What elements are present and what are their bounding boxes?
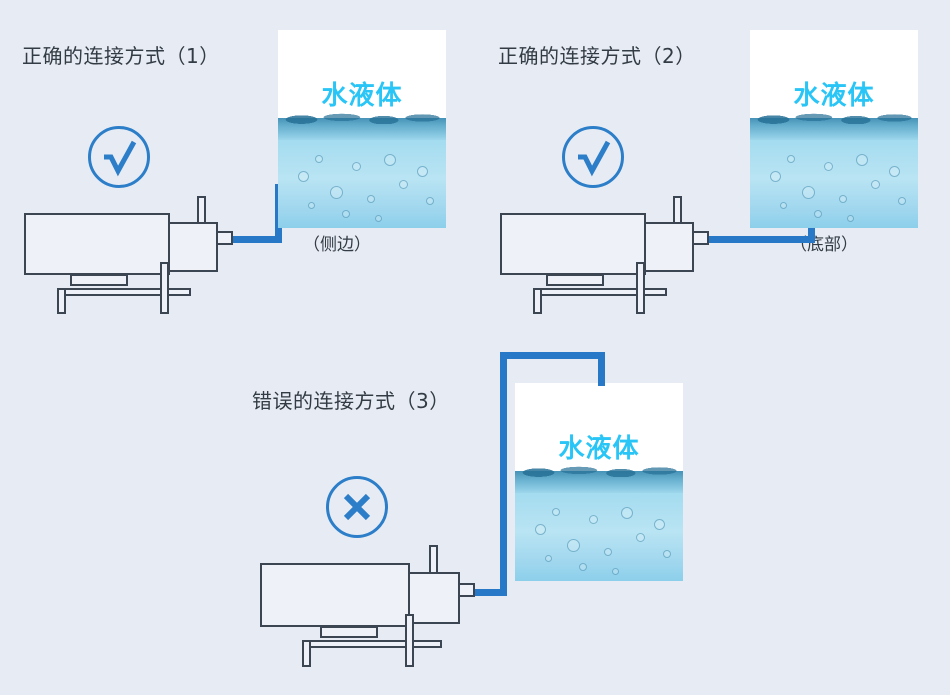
tank-label-1: 水液体 [278,75,446,112]
liquid-tank-2: 水液体 [750,30,918,228]
status-badge-check-1 [88,126,150,188]
water-body-3 [515,471,683,581]
pump-foot-block-3 [320,626,378,638]
panel-2-title: 正确的连接方式（2） [498,40,696,69]
bubbles-3 [515,471,683,581]
diagram-canvas: 正确的连接方式（1） 水液体 [0,0,950,695]
pump-stand-leg-right-1 [160,262,169,314]
tank-label-2: 水液体 [750,75,918,112]
panel-3-title: 错误的连接方式（3） [252,385,450,414]
cross-icon [329,479,385,535]
pump-stand-leg-left-2 [533,288,542,314]
status-badge-check-2 [562,126,624,188]
caption-1: （侧边） [303,230,371,255]
water-body-2 [750,118,918,228]
pump-motor-body-3 [260,563,410,627]
pump-motor-body-2 [500,213,646,275]
check-icon [91,129,147,185]
pump-head-1 [168,222,218,272]
pump-stand-leg-right-3 [405,614,414,667]
status-badge-cross-3 [326,476,388,538]
liquid-tank-3: 水液体 [515,383,683,581]
bubbles-1 [278,118,446,228]
check-icon [565,129,621,185]
pump-head-2 [644,222,694,272]
pump-motor-body-1 [24,213,170,275]
pump-stand-rail-2 [533,288,667,296]
pump-outlet-nozzle-1 [216,231,233,245]
panel-1-title: 正确的连接方式（1） [22,40,220,69]
pump-outlet-nozzle-2 [692,231,709,245]
pump-inlet-stub-2 [673,196,682,224]
pump-inlet-stub-1 [197,196,206,224]
pump-stand-leg-left-1 [57,288,66,314]
pump-foot-block-2 [546,274,604,286]
pump-outlet-nozzle-3 [458,583,475,597]
pump-foot-block-1 [70,274,128,286]
pump-stand-leg-left-3 [302,640,311,667]
pump-head-3 [408,572,460,624]
pump-stand-rail-1 [57,288,191,296]
liquid-tank-1: 水液体 [278,30,446,228]
pipe-3-downcomer [598,352,605,386]
bubbles-2 [750,118,918,228]
pipe-3-riser [500,352,507,596]
pipe-3-top-run [500,352,605,359]
pump-stand-rail-3 [302,640,442,648]
pump-inlet-stub-3 [429,545,438,574]
tank-label-3: 水液体 [515,428,683,465]
water-body-1 [278,118,446,228]
pump-stand-leg-right-2 [636,262,645,314]
